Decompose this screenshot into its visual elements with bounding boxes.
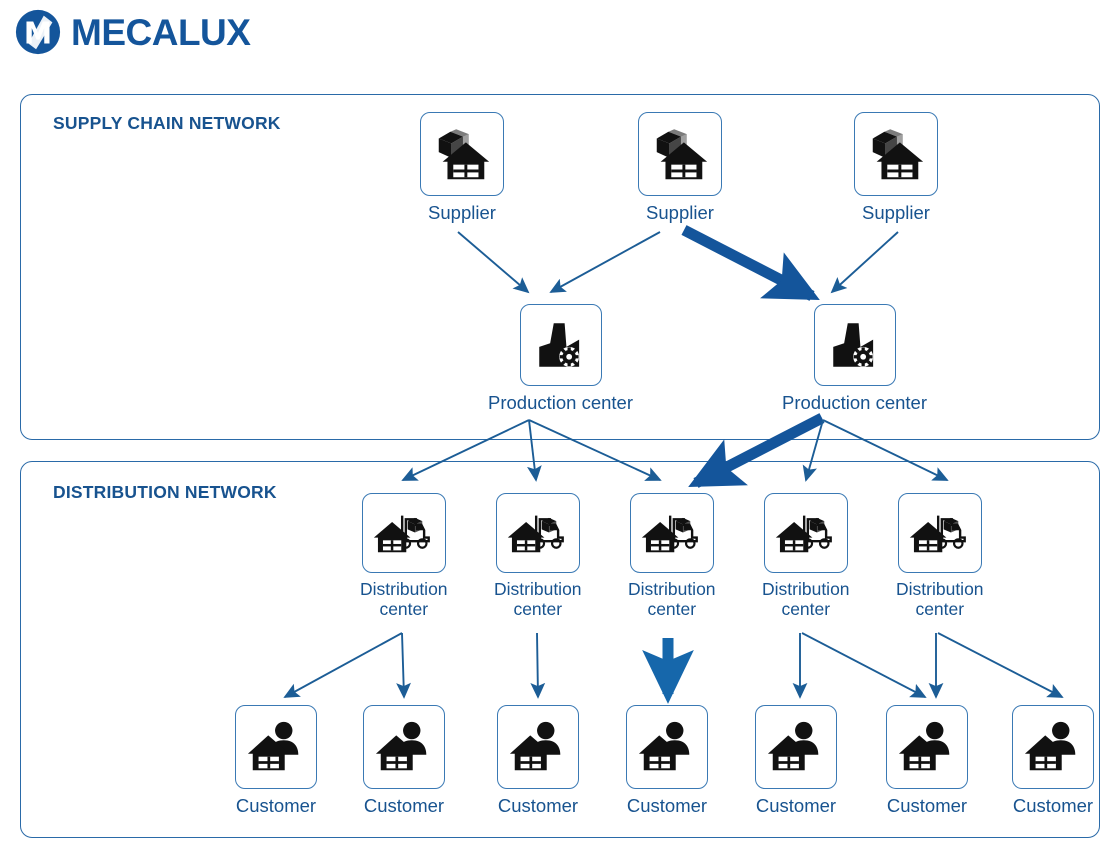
customer-2-label: Customer — [364, 796, 444, 817]
house-person-icon — [636, 716, 698, 778]
mecalux-circular-m-logo-icon — [14, 8, 62, 56]
supplier-warehouse-box-icon — [865, 123, 927, 185]
customer-6-icon-box[interactable] — [886, 705, 968, 789]
supplier-2-icon-box[interactable] — [638, 112, 722, 196]
house-person-icon — [507, 716, 569, 778]
supplier-warehouse-box-icon — [649, 123, 711, 185]
customer-3-icon-box[interactable] — [497, 705, 579, 789]
node-distribution-center-5[interactable]: Distribution center — [896, 493, 984, 619]
production-center-1-icon-box[interactable] — [520, 304, 602, 386]
node-production-center-1[interactable]: Production center — [488, 304, 633, 414]
brand-wordmark: MECALUX — [71, 14, 250, 51]
node-distribution-center-4[interactable]: Distribution center — [762, 493, 850, 619]
warehouse-truck-icon — [372, 504, 436, 562]
production-center-2-icon-box[interactable] — [814, 304, 896, 386]
factory-gear-icon — [826, 316, 884, 374]
node-customer-4[interactable]: Customer — [626, 705, 708, 817]
factory-gear-icon — [532, 316, 590, 374]
customer-7-icon-box[interactable] — [1012, 705, 1094, 789]
node-customer-3[interactable]: Customer — [497, 705, 579, 817]
customer-4-icon-box[interactable] — [626, 705, 708, 789]
customer-1-icon-box[interactable] — [235, 705, 317, 789]
node-customer-1[interactable]: Customer — [235, 705, 317, 817]
warehouse-truck-icon — [640, 504, 704, 562]
distribution-center-5-label: Distribution center — [896, 580, 984, 619]
panel-title-distribution: DISTRIBUTION NETWORK — [53, 482, 277, 503]
node-distribution-center-2[interactable]: Distribution center — [494, 493, 582, 619]
supplier-warehouse-box-icon — [431, 123, 493, 185]
node-customer-5[interactable]: Customer — [755, 705, 837, 817]
house-person-icon — [1022, 716, 1084, 778]
production-center-2-label: Production center — [782, 393, 927, 414]
customer-1-label: Customer — [236, 796, 316, 817]
distribution-center-2-icon-box[interactable] — [496, 493, 580, 573]
node-customer-6[interactable]: Customer — [886, 705, 968, 817]
node-customer-2[interactable]: Customer — [363, 705, 445, 817]
customer-4-label: Customer — [627, 796, 707, 817]
supplier-1-icon-box[interactable] — [420, 112, 504, 196]
distribution-center-3-icon-box[interactable] — [630, 493, 714, 573]
diagram-canvas: MECALUX SUPPLY CHAIN NETWORK DISTRIBUTIO… — [0, 0, 1120, 848]
house-person-icon — [373, 716, 435, 778]
mecalux-logo: MECALUX — [14, 8, 250, 56]
customer-5-icon-box[interactable] — [755, 705, 837, 789]
customer-5-label: Customer — [756, 796, 836, 817]
distribution-center-4-label: Distribution center — [762, 580, 850, 619]
node-distribution-center-1[interactable]: Distribution center — [360, 493, 448, 619]
supplier-3-label: Supplier — [862, 203, 930, 224]
panel-title-supply-chain: SUPPLY CHAIN NETWORK — [53, 113, 281, 134]
house-person-icon — [245, 716, 307, 778]
node-supplier-3[interactable]: Supplier — [854, 112, 938, 224]
distribution-center-1-label: Distribution center — [360, 580, 448, 619]
distribution-center-3-label: Distribution center — [628, 580, 716, 619]
warehouse-truck-icon — [774, 504, 838, 562]
production-center-1-label: Production center — [488, 393, 633, 414]
customer-2-icon-box[interactable] — [363, 705, 445, 789]
warehouse-truck-icon — [506, 504, 570, 562]
warehouse-truck-icon — [908, 504, 972, 562]
distribution-center-4-icon-box[interactable] — [764, 493, 848, 573]
house-person-icon — [765, 716, 827, 778]
node-supplier-1[interactable]: Supplier — [420, 112, 504, 224]
node-distribution-center-3[interactable]: Distribution center — [628, 493, 716, 619]
customer-3-label: Customer — [498, 796, 578, 817]
supplier-2-label: Supplier — [646, 203, 714, 224]
node-production-center-2[interactable]: Production center — [782, 304, 927, 414]
node-customer-7[interactable]: Customer — [1012, 705, 1094, 817]
house-person-icon — [896, 716, 958, 778]
supplier-3-icon-box[interactable] — [854, 112, 938, 196]
customer-6-label: Customer — [887, 796, 967, 817]
distribution-center-1-icon-box[interactable] — [362, 493, 446, 573]
distribution-center-2-label: Distribution center — [494, 580, 582, 619]
supplier-1-label: Supplier — [428, 203, 496, 224]
node-supplier-2[interactable]: Supplier — [638, 112, 722, 224]
distribution-center-5-icon-box[interactable] — [898, 493, 982, 573]
customer-7-label: Customer — [1013, 796, 1093, 817]
